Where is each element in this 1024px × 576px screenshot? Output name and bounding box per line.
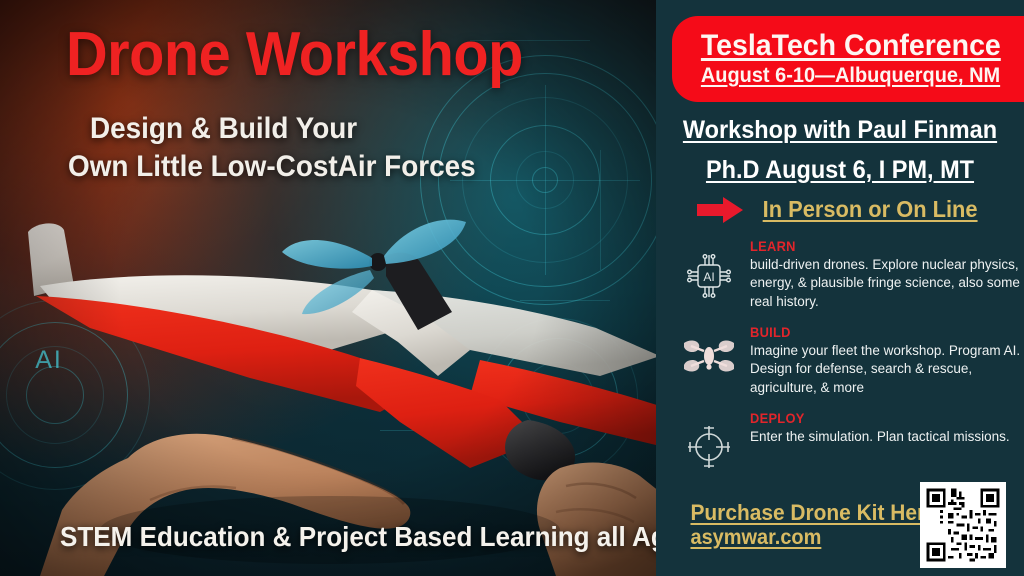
crosshair-target-icon xyxy=(678,408,740,472)
attendance-row: In Person or On Line xyxy=(656,196,1024,223)
conference-banner: TeslaTech Conference August 6-10—Albuque… xyxy=(672,16,1024,102)
qr-code[interactable] xyxy=(920,482,1006,568)
feature-text: Enter the simulation. Plan tactical miss… xyxy=(750,428,1024,446)
feature-text: build-driven drones. Explore nuclear phy… xyxy=(750,256,1024,311)
quadcopter-drone-icon xyxy=(678,322,740,376)
conference-name: TeslaTech Conference xyxy=(701,30,1001,62)
workshop-title-line-1: Workshop with Paul Finman xyxy=(667,116,1013,145)
purchase-link[interactable]: Purchase Drone Kit Here asymwar.com xyxy=(684,500,943,551)
feature-build: BUILD Imagine your fleet the workshop. P… xyxy=(678,322,1024,397)
svg-text:AI: AI xyxy=(703,270,714,284)
subtitle-line-2: Own Little Low-CostAir Forces xyxy=(68,148,476,186)
stem-tagline: STEM Education & Project Based Learning … xyxy=(60,521,660,553)
workshop-title-line-2: Ph.D August 6, I PM, MT xyxy=(667,156,1013,185)
page-title: Drone Workshop xyxy=(66,22,523,87)
feature-heading: BUILD xyxy=(750,324,1002,340)
drone-photo-illustration xyxy=(0,200,660,576)
conference-dates-location: August 6-10—Albuquerque, NM xyxy=(701,64,1000,88)
feature-text: Imagine your fleet the workshop. Program… xyxy=(750,342,1024,397)
feature-deploy: DEPLOY Enter the simulation. Plan tactic… xyxy=(678,408,1024,472)
promotional-flyer: AI xyxy=(0,0,1024,576)
subtitle-line-1: Design & Build Your xyxy=(90,110,357,148)
ai-chip-icon: AI xyxy=(678,236,740,302)
feature-heading: LEARN xyxy=(750,238,1002,254)
purchase-label[interactable]: Purchase Drone Kit Here xyxy=(690,500,936,526)
feature-learn: AI LEARN build-driven drones. Explore nu… xyxy=(678,236,1024,311)
right-arrow-icon xyxy=(697,197,743,223)
attendance-option[interactable]: In Person or On Line xyxy=(763,196,978,223)
hero-photo-panel: AI xyxy=(0,0,660,576)
purchase-url[interactable]: asymwar.com xyxy=(690,526,936,551)
feature-heading: DEPLOY xyxy=(750,410,1002,426)
